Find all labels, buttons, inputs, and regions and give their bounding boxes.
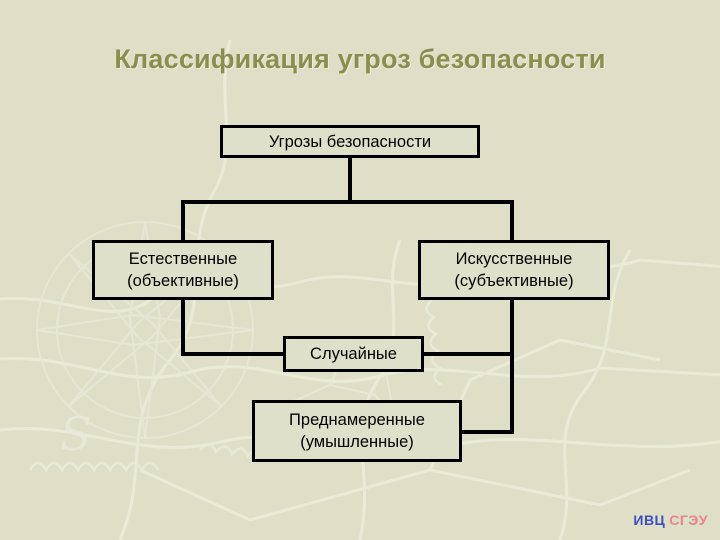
slide-canvas: S Классификация угроз безопасности Угроз…: [0, 0, 720, 540]
page-title: Классификация угроз безопасности: [0, 44, 720, 75]
svg-text:S: S: [60, 407, 92, 461]
node-natural-label-line1: Естественные: [129, 248, 237, 270]
node-artificial-label-line1: Искусственные: [456, 248, 573, 270]
node-deliberate-threats: Преднамеренные (умышленные): [252, 400, 462, 462]
node-natural-label-line2: (объективные): [127, 270, 239, 292]
connector-level1-horizontal: [181, 200, 514, 204]
node-deliberate-label-line2: (умышленные): [300, 431, 414, 453]
node-artificial-label-line2: (субъективные): [454, 270, 573, 292]
connector-natural-to-random: [181, 352, 285, 356]
connector-artificial-to-random: [422, 352, 512, 356]
footer-logo-sseu: СГЭУ: [669, 512, 708, 528]
connector-natural-down: [181, 298, 185, 356]
connector-artificial-down: [510, 298, 514, 434]
connector-to-artificial: [510, 200, 514, 244]
node-deliberate-label-line1: Преднамеренные: [289, 409, 425, 431]
connector-to-natural: [181, 200, 185, 244]
node-artificial-threats: Искусственные (субъективные): [418, 240, 610, 300]
node-random-threats: Случайные: [283, 336, 424, 372]
node-root-label: Угрозы безопасности: [269, 131, 431, 153]
footer-logo: ИВЦСГЭУ: [633, 512, 708, 528]
node-root-threats: Угрозы безопасности: [220, 125, 480, 158]
footer-logo-ivc: ИВЦ: [633, 512, 665, 528]
connector-root-stem: [348, 158, 352, 204]
connector-artificial-to-deliberate: [460, 430, 514, 434]
node-natural-threats: Естественные (объективные): [92, 240, 274, 300]
node-random-label: Случайные: [310, 343, 397, 365]
